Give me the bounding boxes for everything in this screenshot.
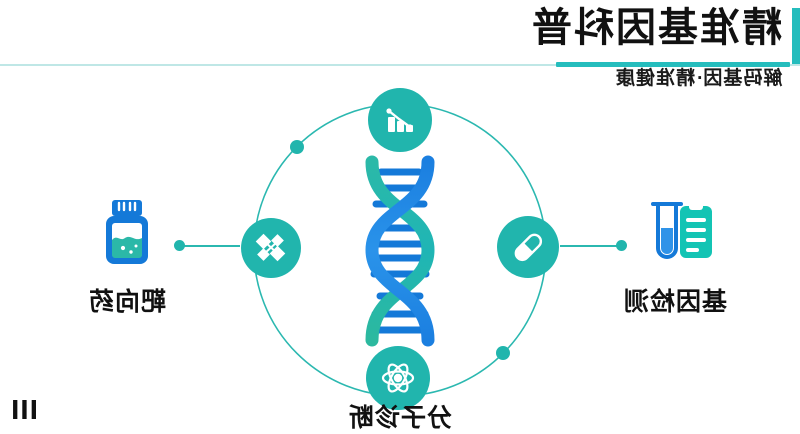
infographic-canvas: 精准基因科普 解码基因·精准健康 — [0, 0, 800, 419]
bar-chart-trend-icon — [383, 103, 417, 137]
header-divider-accent — [556, 62, 790, 67]
ring-dot-lower-right — [496, 346, 510, 360]
capsule-pill-icon — [511, 230, 545, 264]
side-item-right[interactable]: 基因检测 — [590, 196, 760, 318]
node-molecule[interactable] — [241, 218, 301, 278]
node-capsule[interactable] — [497, 216, 559, 278]
side-label-right: 基因检测 — [623, 282, 727, 318]
molecule-cluster-icon — [255, 232, 287, 264]
right-edge-accent-bar — [792, 8, 800, 64]
ring-dot-upper-left — [290, 140, 304, 154]
side-item-left[interactable]: 靶向药 — [42, 196, 212, 318]
dna-double-helix-icon — [344, 150, 456, 350]
node-bar-chart[interactable] — [368, 88, 432, 152]
corner-mark: III — [10, 400, 38, 419]
test-tube-report-icon — [590, 196, 760, 270]
page-subtitle: 解码基因·精准健康 — [615, 64, 782, 94]
medicine-bottle-icon — [42, 196, 212, 270]
side-label-left: 靶向药 — [88, 282, 166, 318]
atom-icon — [380, 360, 416, 396]
page-title-wrap: 精准基因科普 — [470, 0, 782, 56]
page-title: 精准基因科普 — [530, 0, 782, 56]
header: 精准基因科普 解码基因·精准健康 — [470, 0, 800, 94]
node-label-bottom: 分子诊断 — [310, 398, 490, 434]
